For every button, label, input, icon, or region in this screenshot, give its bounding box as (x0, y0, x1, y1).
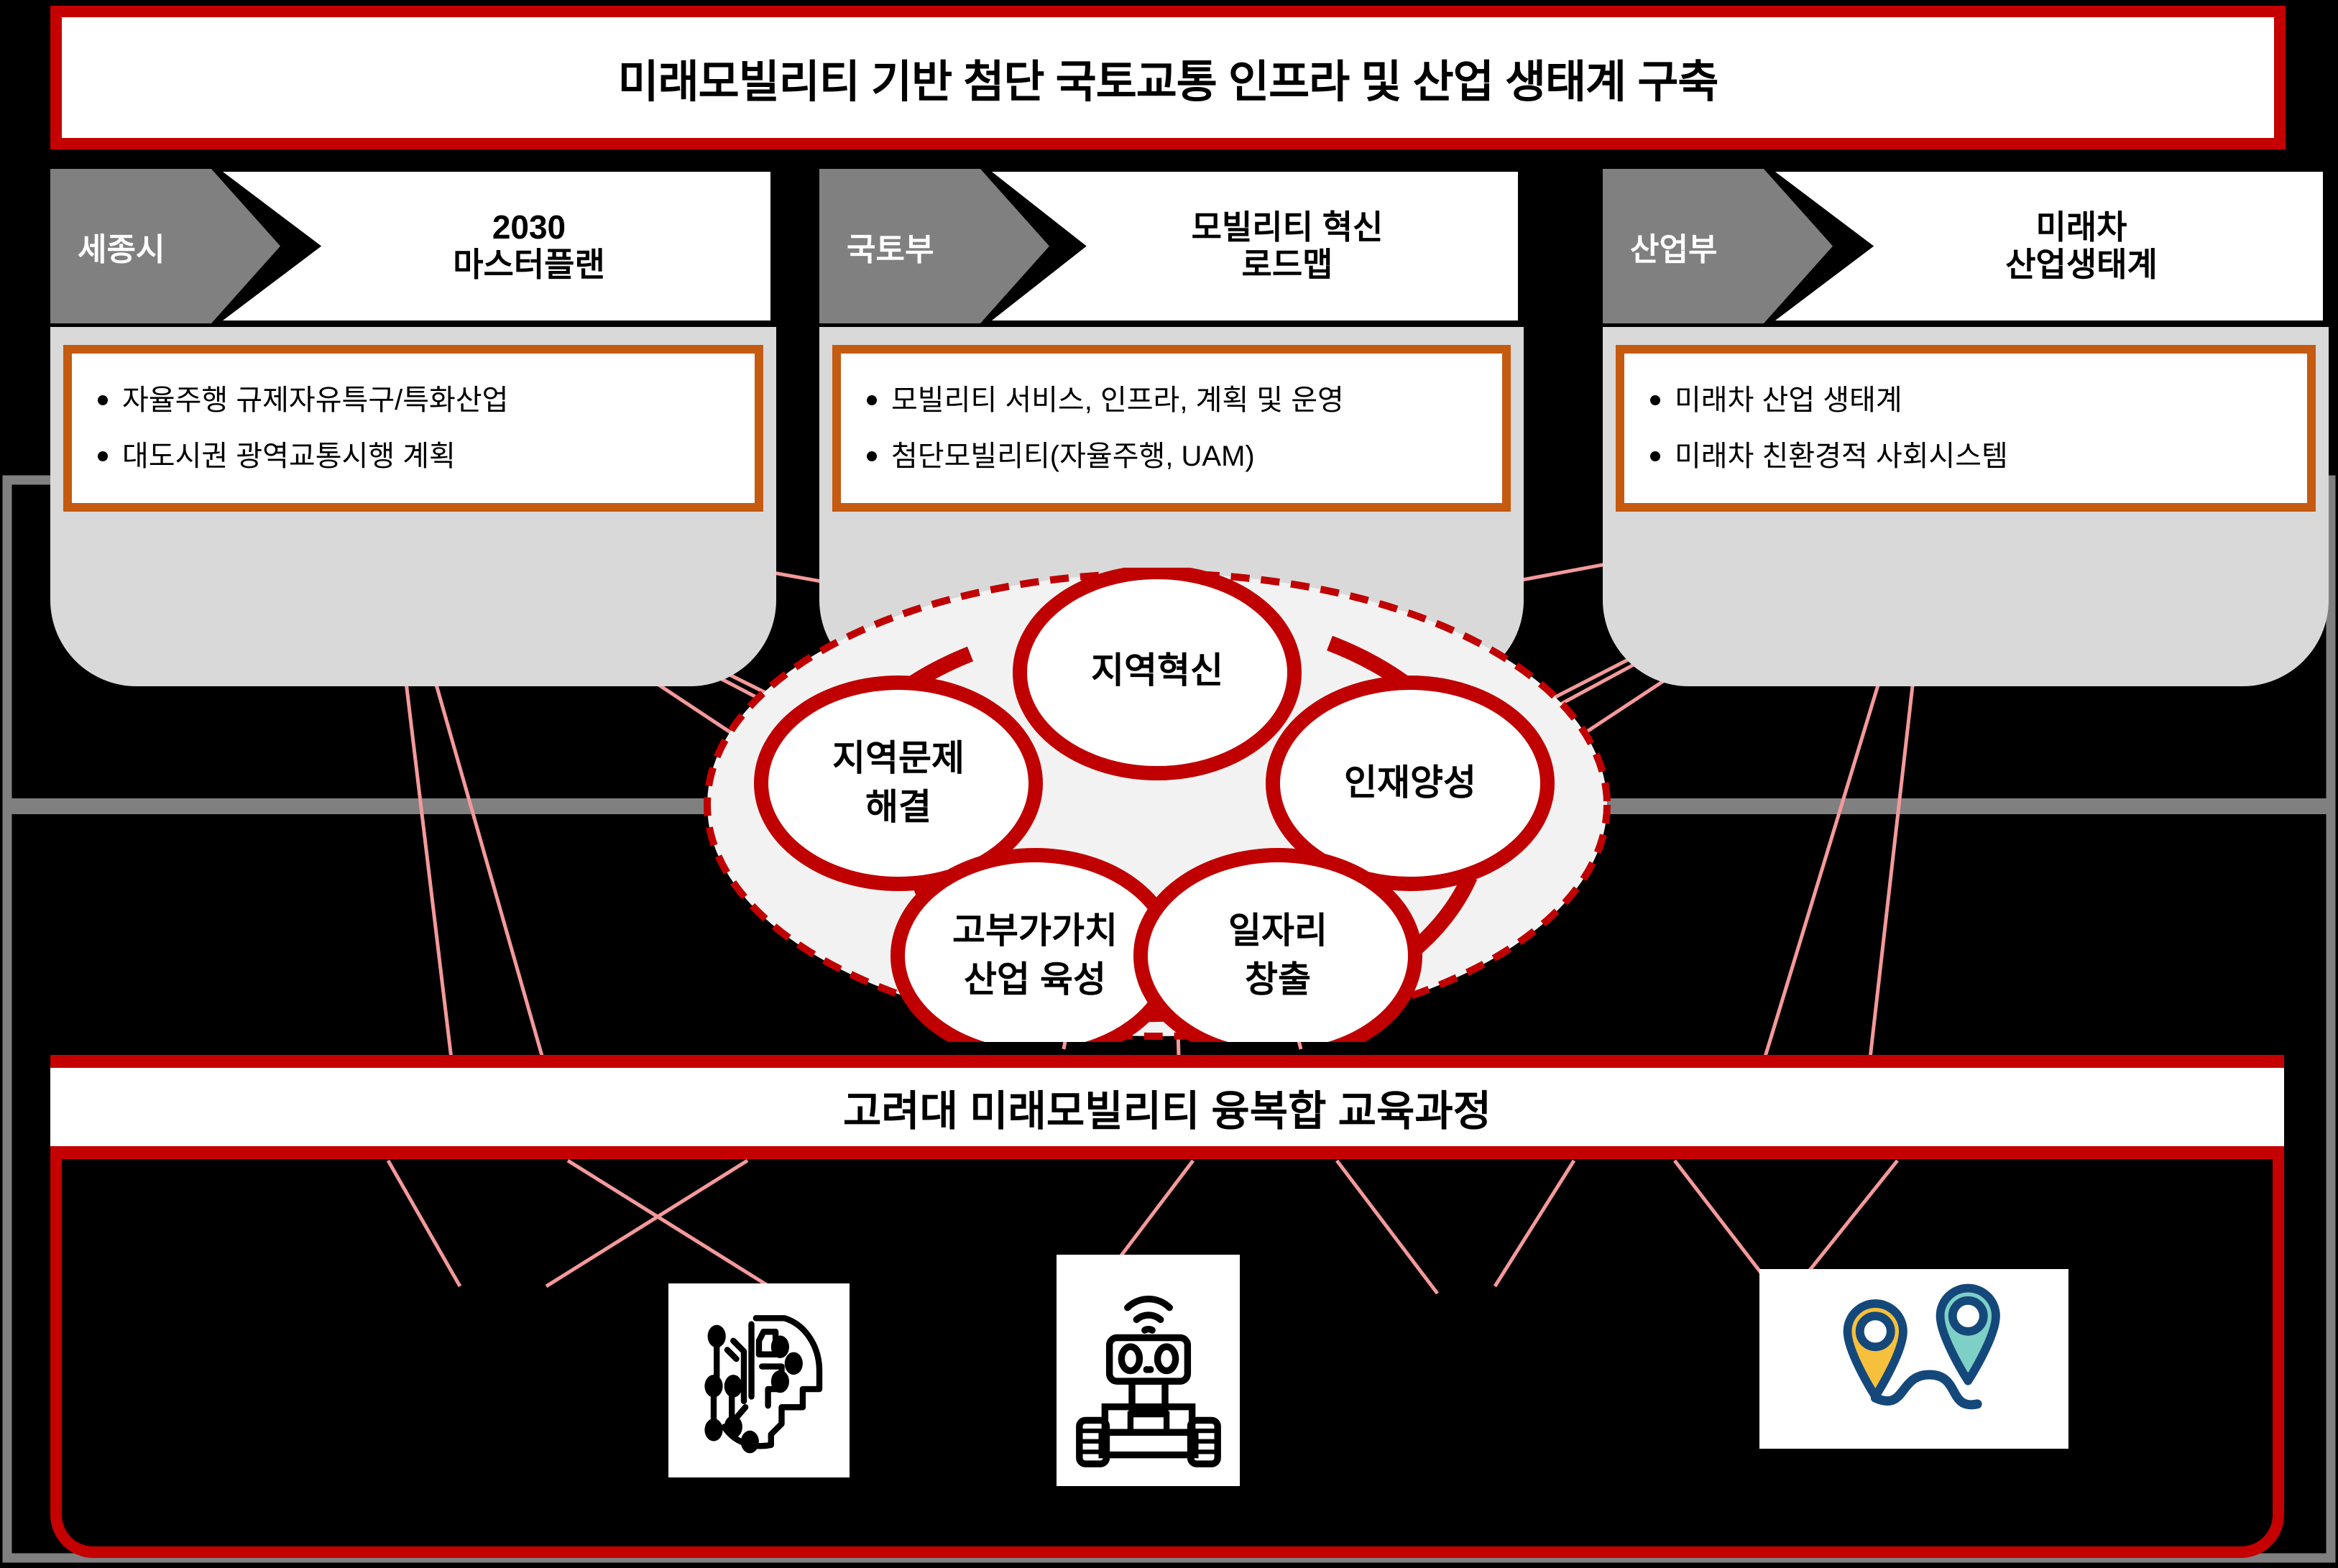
cluster-node-label-1a: 지역문제 (832, 738, 965, 778)
chevron-tag: 국토부 (819, 169, 1049, 323)
chevron-heading-area: 모빌리티 혁신 로드맵 (992, 172, 1518, 320)
list-item: 미래차 친환경적 사회시스템 (1675, 428, 2294, 484)
panel-chevron-header: 모빌리티 혁신 로드맵 국토부 (819, 169, 1524, 323)
list-item: 미래차 산업 생태계 (1675, 372, 2294, 428)
panel-chevron-header: 미래차 산업생태계 산업부 (1603, 169, 2329, 323)
main-title-bar: 미래모빌리티 기반 첨단 국토교통 인프라 및 산업 생태계 구축 (50, 6, 2286, 149)
cluster-node-label-1b: 해결 (865, 787, 931, 827)
chevron-heading-area: 미래차 산업생태계 (1775, 172, 2323, 320)
list-item: 대도시권 광역교통시행 계획 (122, 428, 742, 484)
cluster-node-label-2: 인재양성 (1344, 762, 1476, 803)
chevron-heading-area: 2030 마스터플랜 (223, 172, 770, 320)
panel-chevron-header: 2030 마스터플랜 세종시 (50, 169, 776, 323)
panel-tag-label: 세종시 (78, 223, 165, 269)
chevron-tag: 세종시 (50, 169, 280, 323)
footer-bar: 고려대 미래모빌리티 융복합 교육과정 (50, 1055, 2284, 1159)
panel-bullets-box: 미래차 산업 생태계 미래차 친환경적 사회시스템 (1616, 345, 2316, 512)
panel-bullets-box: 모빌리티 서비스, 인프라, 계획 및 운영 첨단모빌리티(자율주행, UAM) (832, 345, 1511, 512)
panel-molit[interactable]: 모빌리티 혁신 로드맵 국토부 모빌리티 서비스, 인프라, 계획 및 운영 첨… (819, 169, 1524, 323)
list-item: 모빌리티 서비스, 인프라, 계획 및 운영 (891, 372, 1489, 428)
panel-heading: 미래차 산업생태계 (2005, 209, 2158, 283)
diagram-canvas: 미래모빌리티 기반 첨단 국토교통 인프라 및 산업 생태계 구축 2030 마… (0, 0, 2338, 1568)
robot-rover-icon (1057, 1255, 1240, 1486)
list-item: 첨단모빌리티(자율주행, UAM) (891, 428, 1489, 484)
route-map-pins-icon (1759, 1269, 2068, 1449)
panel-heading: 2030 마스터플랜 (453, 209, 605, 283)
panel-bullets-box: 자율주행 규제자유특구/특화산업 대도시권 광역교통시행 계획 (63, 345, 763, 512)
cluster-node-label-0: 지역혁신 (1091, 650, 1223, 691)
footer-title: 고려대 미래모빌리티 융복합 교육과정 (843, 1077, 1491, 1138)
cluster-node-label-3b: 산업 육성 (964, 959, 1106, 1000)
core-value-cluster: 지역혁신 지역문제 해결 인재양성 고부가가치 산업 육성 일자리 창출 (683, 568, 1631, 1042)
panel-sejong[interactable]: 2030 마스터플랜 세종시 자율주행 규제자유특구/특화산업 대도시권 광역교… (50, 169, 776, 323)
cluster-node-label-4a: 일자리 (1228, 910, 1327, 951)
chevron-tag: 산업부 (1603, 169, 1833, 323)
panel-motie[interactable]: 미래차 산업생태계 산업부 미래차 산업 생태계 미래차 친환경적 사회시스템 (1603, 169, 2329, 323)
list-item: 자율주행 규제자유특구/특화산업 (122, 372, 742, 428)
panel-heading: 모빌리티 혁신 로드맵 (1192, 209, 1384, 283)
panel-tag-label: 산업부 (1630, 223, 1717, 269)
panel-tag-label: 국토부 (847, 223, 934, 269)
ai-brain-head-icon (668, 1283, 850, 1477)
cluster-node-label-4b: 창출 (1245, 959, 1311, 1000)
page-title: 미래모빌리티 기반 첨단 국토교통 인프라 및 산업 생태계 구축 (618, 45, 1718, 110)
cluster-node-label-3a: 고부가가치 (952, 910, 1118, 951)
